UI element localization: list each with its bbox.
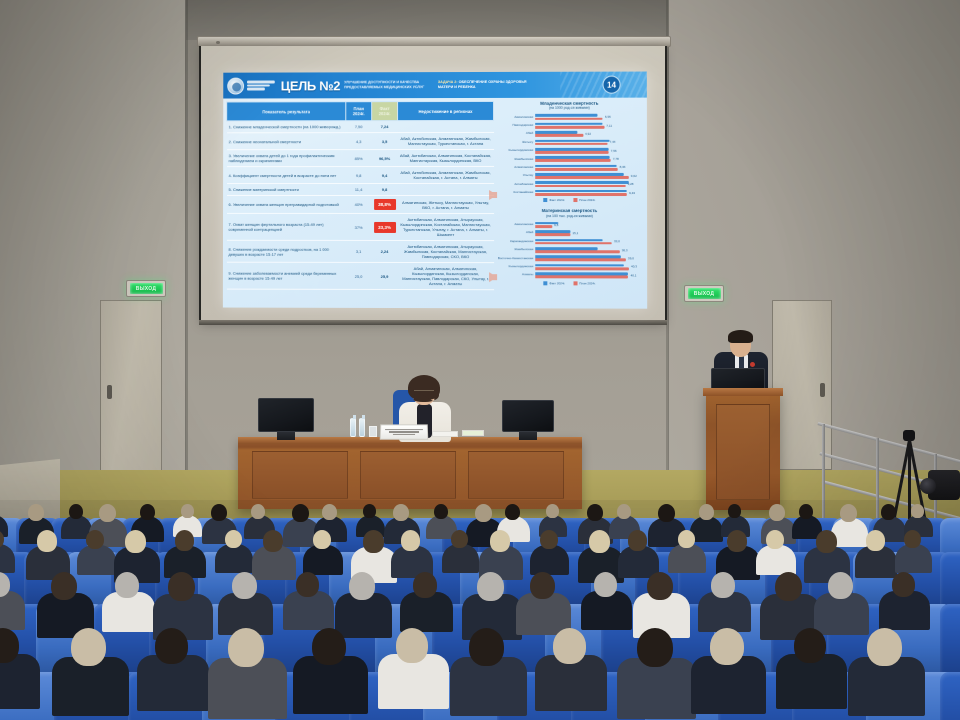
chart-bar: [535, 159, 611, 162]
audience-member-head: [313, 530, 331, 549]
cell-fact: 38,8%: [372, 195, 398, 213]
chart-category-label: Жетысу: [495, 141, 535, 144]
audience-member-head: [469, 628, 504, 666]
chart-category-label: Жамбылская: [495, 158, 535, 161]
chart-bar-area: 6,96: [535, 113, 644, 120]
chart-value-label: 8,46: [620, 165, 626, 169]
audience-member-head: [546, 504, 559, 518]
audience-member-shoulders: [0, 591, 25, 630]
audience-member-head: [434, 504, 448, 519]
audience-member-head: [99, 504, 116, 522]
audience-member-head: [775, 572, 802, 601]
chart-value-label: 7,56: [611, 149, 617, 153]
audience-area: [0, 500, 960, 720]
table-row: 7. Охват женщин фертильного возраста (15…: [226, 213, 493, 240]
audience-member-head: [647, 572, 673, 600]
audience-member-head: [505, 504, 520, 520]
exit-sign-left: ВЫХОД: [126, 280, 166, 297]
chart-bar-row: Восточно-Казахстанская39,0: [495, 255, 644, 262]
water-bottle: [359, 418, 365, 437]
audience-member-head: [71, 628, 106, 666]
chart-category-label: Абай: [495, 132, 535, 135]
callout-arrow-top-icon: [489, 190, 497, 200]
presidium-monitor-right: [502, 400, 554, 432]
audience-member-head: [892, 572, 915, 597]
chart-bar: [535, 275, 628, 278]
chart-2-title: Материнская смертность (на 100 тыс. род-…: [495, 208, 644, 219]
chart-bar: [535, 185, 625, 188]
chart-bar-row: Актюбинская9,28: [495, 181, 644, 188]
chart-value-label: 4,92: [585, 132, 591, 136]
audience-member-head: [727, 530, 747, 552]
chart-bar: [535, 117, 603, 120]
chart-bar-row: Алматинская8,46: [495, 164, 644, 171]
audience-member-head: [349, 572, 375, 600]
glasses-icon: [414, 390, 434, 394]
cell-indicator: 9. Снижение заболеваемости анемией среди…: [226, 262, 345, 289]
chart-2-bars: Акмолинская9,8Абай15,1Карагандинская33,0…: [495, 221, 644, 279]
audience-member-head: [181, 504, 194, 518]
chart-bar-area: 7,44: [535, 139, 644, 146]
charts-panel: Младенческая смертность (на 1000 род-ся …: [493, 101, 644, 309]
chart-value-label: 9,8: [554, 223, 558, 227]
chart-bar: [535, 225, 552, 228]
chart-bar: [535, 134, 583, 137]
chart-bar-area: 39,0: [535, 255, 644, 262]
chart-bar: [535, 143, 607, 146]
chart-bar: [535, 165, 617, 168]
table-row: 3. Увеличение охвата детей до 1 года про…: [227, 149, 494, 166]
chart-bar-row: Жетысу7,44: [495, 139, 644, 146]
audience-member-head: [699, 504, 714, 520]
exit-sign-right: ВЫХОД: [684, 285, 724, 302]
chart-bar-area: 9,43: [535, 189, 644, 196]
chart-category-label: Павлодарская: [495, 124, 535, 127]
audience-member-shoulders: [303, 545, 343, 576]
slide-header: ЦЕЛЬ №2 УЛУЧШЕНИЕ ДОСТУПНОСТИ И КАЧЕСТВА…: [223, 72, 647, 99]
presidium-monitor-left: [258, 398, 314, 432]
audience-member-head: [140, 504, 155, 520]
chart-value-label: 9,28: [628, 182, 634, 186]
cell-indicator: 8. Снижение рождаемости среди подростков…: [226, 240, 345, 262]
cell-indicator: 7. Охват женщин фертильного возраста (15…: [226, 213, 345, 240]
chart-bar: [535, 114, 597, 117]
chart-bar-row: Костанайская9,43: [495, 189, 644, 196]
presentation-slide: ЦЕЛЬ №2 УЛУЧШЕНИЕ ДОСТУПНОСТИ И КАЧЕСТВА…: [223, 72, 647, 309]
chart-2-legend: Факт 2024г. План 2024г.: [495, 281, 644, 285]
audience-member-head: [594, 572, 617, 597]
papers: [432, 431, 458, 437]
cell-plan: 7,50: [346, 121, 372, 133]
audience-member-head: [904, 530, 921, 548]
audience-member-shoulders: [530, 545, 570, 576]
chart-category-label: Кызылординская: [495, 265, 535, 268]
chart-bar-area: 9,8: [535, 221, 644, 228]
audience-member-head: [363, 530, 384, 553]
chart-bar-row: Акмолинская9,8: [495, 221, 644, 228]
chart-1-title: Младенческая смертность (на 1000 род-ся …: [495, 101, 644, 112]
chart-1-bars: Акмолинская6,96Павлодарская7,11Абай4,92Ж…: [495, 113, 644, 196]
monitor-stand: [519, 432, 537, 440]
chart-category-label: Улытау: [495, 174, 535, 177]
chart-value-label: 9,62: [631, 174, 637, 178]
chart-bar-area: 40,3: [535, 263, 644, 270]
exit-sign-left-label: ВЫХОД: [130, 283, 163, 294]
chart-bar-area: 9,28: [535, 181, 644, 188]
chart-value-label: 33,0: [614, 240, 620, 244]
audience-member-head: [866, 530, 885, 551]
chart-value-label: 9,43: [629, 191, 635, 195]
cell-fact: 25,9: [372, 262, 398, 289]
audience-member-head: [228, 628, 264, 667]
audience-member-head: [413, 572, 437, 598]
kpi-table-wrapper: Показатель результата План 2024г. Факт 2…: [226, 101, 493, 308]
cell-plan: 25,0: [346, 262, 372, 289]
audience-member-head: [816, 530, 837, 553]
audience-member-head: [530, 572, 555, 599]
audience-member-shoulders: [77, 545, 117, 576]
chart-value-label: 15,1: [572, 231, 578, 235]
podium-panel: [716, 404, 770, 500]
exit-sign-right-label: ВЫХОД: [688, 288, 721, 299]
name-plate: [380, 424, 429, 439]
audience-member-head: [490, 530, 510, 552]
chart-bar: [535, 176, 628, 179]
audience-member-head: [125, 530, 146, 553]
presidium-table: [238, 437, 582, 509]
audience-member-head: [840, 504, 857, 522]
audience-member-head: [312, 628, 346, 665]
table-row: 5. Снижение материнской смертности11,49,…: [227, 183, 494, 195]
chart-value-label: 40,1: [631, 273, 637, 277]
chart-bar-row: Алматы40,1: [495, 272, 644, 280]
audience-member-head: [881, 504, 896, 520]
audience-member-head: [769, 504, 785, 521]
cell-plan: 40%: [346, 195, 372, 213]
slide-number-badge: 14: [602, 76, 620, 94]
chart-bar-row: Жамбылская7,78: [495, 156, 644, 163]
audience-member-head: [658, 504, 675, 522]
cell-indicator: 6. Увеличение охвата женщин прегравидарн…: [227, 195, 346, 213]
audience-member-head: [401, 530, 420, 551]
chart-category-label: Жамбылская: [495, 248, 535, 251]
chart-bar-row: Жамбылская36,3: [495, 246, 644, 253]
chart-bar-area: 33,0: [535, 238, 644, 245]
audience-member-head: [51, 572, 77, 600]
audience-member-head: [728, 504, 741, 518]
chart-bar-row: Улытау9,62: [495, 172, 644, 179]
audience-member-head: [711, 572, 735, 598]
cell-regions: Абай, Алматинская, Алматинская, Кызылорд…: [397, 262, 493, 289]
audience-member-head: [175, 530, 194, 551]
cell-regions: Актюбинская, Алматинская, Атырауская, Жа…: [398, 240, 494, 262]
chart-bar-area: 7,78: [535, 156, 644, 163]
cell-fact: 33,3%: [372, 213, 398, 240]
audience-member-head: [587, 504, 603, 521]
table-header-row: Показатель результата План 2024г. Факт 2…: [227, 101, 494, 120]
drinking-glass: [369, 426, 377, 437]
audience-member-head: [225, 530, 242, 548]
table-row: 2. Снижение неонатальной смертности4,33,…: [227, 132, 494, 149]
audience-member-head: [799, 504, 813, 519]
chart-category-label: Восточно-Казахстанская: [495, 257, 535, 260]
water-bottle: [350, 418, 356, 437]
chart-bar: [535, 239, 602, 242]
table-row: 6. Увеличение охвата женщин прегравидарн…: [227, 195, 494, 213]
slide-task-label: ЗАДАЧА 2:: [438, 80, 458, 84]
cell-regions: Абай, Актюбинская, Алматинская, Жамбылск…: [398, 132, 494, 149]
status-badge-underachieved: 38,8%: [374, 199, 396, 210]
cell-indicator: 2. Снижение неонатальной смертности: [227, 133, 346, 150]
auditorium-seat: [940, 672, 960, 720]
audience-member-head: [232, 572, 257, 599]
cell-plan: 9,8: [346, 167, 372, 184]
col-header-regions: Недостижение в регионах: [398, 101, 494, 120]
lapel-pin-icon: [750, 362, 755, 367]
chart-bar: [535, 267, 629, 270]
auditorium-seat: [940, 552, 960, 610]
chart-category-label: Карагандинская: [495, 240, 535, 243]
auditorium-photo: ВЫХОД ВЫХОД ЦЕЛЬ №2 УЛУЧШЕНИЕ ДОСТУПНОСТ…: [0, 0, 960, 720]
chart-value-label: 39,0: [628, 256, 634, 260]
chart-bar: [535, 151, 608, 154]
audience-member-head: [28, 504, 44, 521]
chart-category-label: Кызылординская: [495, 149, 535, 152]
chart-bar-row: Павлодарская7,11: [495, 122, 644, 129]
screen-bottom-bar: [199, 320, 667, 325]
speaker-hair: [728, 330, 753, 343]
cell-regions: [398, 120, 494, 132]
chart-value-label: 7,11: [606, 123, 612, 127]
audience-member-head: [475, 504, 492, 522]
cell-plan: 4,3: [346, 133, 372, 150]
audience-member-shoulders: [442, 544, 479, 573]
chart-bar: [535, 193, 627, 196]
presidium-panel: [360, 451, 456, 499]
audience-member-head: [628, 530, 647, 551]
chart-value-label: 6,96: [605, 115, 611, 119]
cell-indicator: 5. Снижение материнской смертности: [227, 184, 346, 196]
audience-member-head: [911, 504, 924, 518]
chart-infant-mortality: Младенческая смертность (на 1000 род-ся …: [495, 101, 644, 203]
door-handle-left: [107, 385, 112, 399]
audience-member-head: [828, 572, 853, 599]
audience-member-shoulders: [668, 544, 705, 573]
papers: [462, 430, 484, 436]
chart-bar-area: 4,92: [535, 130, 644, 137]
chart-bar-area: 36,3: [535, 246, 644, 253]
chart-category-label: Акмолинская: [495, 223, 535, 226]
col-header-plan: План 2024г.: [346, 102, 372, 121]
audience-member-head: [69, 504, 83, 519]
chart-bar: [535, 250, 619, 253]
col-header-indicator: Показатель результата: [227, 102, 346, 121]
speaker-podium: [706, 388, 780, 510]
audience-member-head: [710, 628, 744, 665]
ministry-emblem-icon: [227, 77, 244, 94]
chart-maternal-mortality: Материнская смертность (на 100 тыс. род-…: [495, 208, 644, 285]
cell-plan: 3,1: [346, 240, 372, 262]
chart-bar-area: 9,62: [535, 172, 644, 179]
podium-top: [703, 388, 783, 396]
audience-member-head: [322, 504, 337, 520]
chart-bar-area: 40,1: [535, 272, 644, 279]
audience-member-head: [451, 530, 468, 548]
audience-member-head: [155, 628, 188, 664]
ministry-wordmark: [247, 81, 275, 90]
chart-bar: [535, 181, 628, 184]
chart-category-label: Алматы: [495, 273, 535, 276]
kpi-table: Показатель результата План 2024г. Факт 2…: [226, 101, 494, 290]
audience-member-head: [553, 628, 586, 664]
chart-category-label: Костанайская: [495, 191, 535, 194]
chart-bar-row: Акмолинская6,96: [495, 113, 644, 120]
cell-indicator: 1. Снижение младенческой смертности (на …: [227, 121, 346, 133]
cell-regions: Актюбинская, Алматинская, Атырауская, Кы…: [398, 213, 494, 240]
table-row: 4. Коэффициент смертности детей в возрас…: [227, 166, 494, 183]
chart-bar: [535, 259, 626, 262]
slide-body: Показатель результата План 2024г. Факт 2…: [223, 98, 647, 309]
cell-fact: 2,24: [372, 240, 398, 262]
audience-member-head: [637, 628, 673, 667]
chart-category-label: Актюбинская: [495, 183, 535, 186]
audience-member-head: [115, 572, 139, 598]
chart-bar: [535, 233, 570, 236]
cell-fact: 9,4: [372, 167, 398, 184]
status-badge-underachieved: 33,3%: [374, 221, 396, 232]
chart-bar: [535, 139, 610, 142]
callout-arrow-bottom-icon: [489, 272, 497, 282]
cell-fact: 7,24: [372, 121, 398, 133]
audience-member-shoulders: [756, 545, 796, 576]
chart-bar-row: Абай4,92: [495, 130, 644, 137]
cell-indicator: 3. Увеличение охвата детей до 1 года про…: [227, 150, 346, 167]
table-row: 9. Снижение заболеваемости анемией среди…: [226, 262, 493, 290]
chart-value-label: 40,3: [631, 265, 637, 269]
monitor-stand: [277, 432, 295, 440]
cell-fact: 96,5%: [372, 150, 398, 167]
audience-member-head: [867, 628, 902, 666]
audience-member-head: [296, 572, 319, 597]
audience-member-shoulders: [895, 544, 932, 573]
chart-category-label: Алматинская: [495, 166, 535, 169]
monitor-screen: [502, 400, 554, 432]
chart-bar-area: 15,1: [535, 230, 644, 237]
cell-indicator: 4. Коэффициент смертности детей в возрас…: [227, 167, 346, 184]
chart-category-label: Абай: [495, 232, 535, 235]
cell-regions: Абай, Актюбинская, Алматинская, Костанай…: [398, 149, 494, 166]
col-header-fact: Факт 2024г.: [372, 102, 398, 121]
slide-goal-text: УЛУЧШЕНИЕ ДОСТУПНОСТИ И КАЧЕСТВА ПРЕДОСТ…: [344, 81, 432, 90]
audience-member-head: [37, 530, 57, 552]
audience-member-shoulders: [215, 544, 252, 573]
table-row: 1. Снижение младенческой смертности (на …: [227, 120, 494, 132]
chart-1-legend: Факт 2024г. План 2024г.: [495, 198, 644, 202]
cell-fact: 3,5: [372, 133, 398, 150]
chart-value-label: 7,44: [610, 140, 616, 144]
audience-member-head: [766, 530, 784, 549]
audience-member-head: [393, 504, 409, 521]
presidium-panel: [468, 451, 564, 499]
chart-bar-row: Абай15,1: [495, 230, 644, 237]
chart-value-label: 7,78: [613, 157, 619, 161]
audience-member-head: [292, 504, 309, 522]
chart-bar: [535, 168, 617, 171]
cell-regions: [398, 183, 494, 195]
monitor-screen: [258, 398, 314, 432]
cell-plan: 85%: [346, 150, 372, 167]
auditorium-seat: [940, 604, 960, 676]
chart-bar-area: 7,56: [535, 147, 644, 154]
audience-member-head: [251, 504, 265, 519]
cell-fact: 9,8: [372, 184, 398, 196]
chart-bar-row: Кызылординская40,3: [495, 263, 644, 270]
cell-plan: 37%: [346, 213, 372, 240]
audience-member-head: [168, 572, 195, 601]
audience-member-head: [678, 530, 695, 548]
audience-member-head: [211, 504, 227, 521]
audience-member-head: [477, 572, 504, 601]
name-plate-text: [385, 427, 423, 436]
chart-bar-row: Карагандинская33,0: [495, 238, 644, 245]
chart-value-label: 36,3: [622, 248, 628, 252]
door-handle-right: [820, 383, 825, 397]
audience-member-head: [794, 628, 826, 663]
chart-bar-area: 7,11: [535, 122, 644, 129]
wall-seam-left: [186, 0, 188, 470]
audience-member-head: [540, 530, 558, 549]
cell-regions: Алматинская, Жетысу, Мангистауская, Улыт…: [398, 195, 494, 213]
door-left: [100, 300, 162, 475]
table-row: 8. Снижение рождаемости среди подростков…: [226, 240, 493, 262]
cell-plan: 11,4: [346, 184, 372, 196]
audience-member-head: [363, 504, 376, 518]
chart-category-label: Акмолинская: [495, 116, 535, 119]
audience-member-head: [589, 530, 610, 553]
cell-regions: Абай, Актюбинская, Алматинская, Жамбылск…: [398, 166, 494, 183]
camera-lens-icon: [920, 478, 936, 494]
seated-presenter-hair: [408, 375, 440, 400]
audience-member-head: [263, 530, 283, 552]
presidium-panel: [252, 451, 348, 499]
audience-member-head: [617, 504, 631, 519]
audience-member-head: [396, 628, 428, 663]
chart-bar: [535, 126, 604, 129]
slide-goal-number: ЦЕЛЬ №2: [281, 78, 340, 93]
chart-bar-area: 8,46: [535, 164, 644, 171]
chart-bar: [535, 242, 612, 245]
audience-member-shoulders: [690, 516, 723, 542]
slide-task: ЗАДАЧА 2: ОБЕСПЕЧЕНИЕ ОХРАНЫ ЗДОРОВЬЯ МА…: [438, 80, 542, 90]
chart-bar-row: Кызылординская7,56: [495, 147, 644, 154]
